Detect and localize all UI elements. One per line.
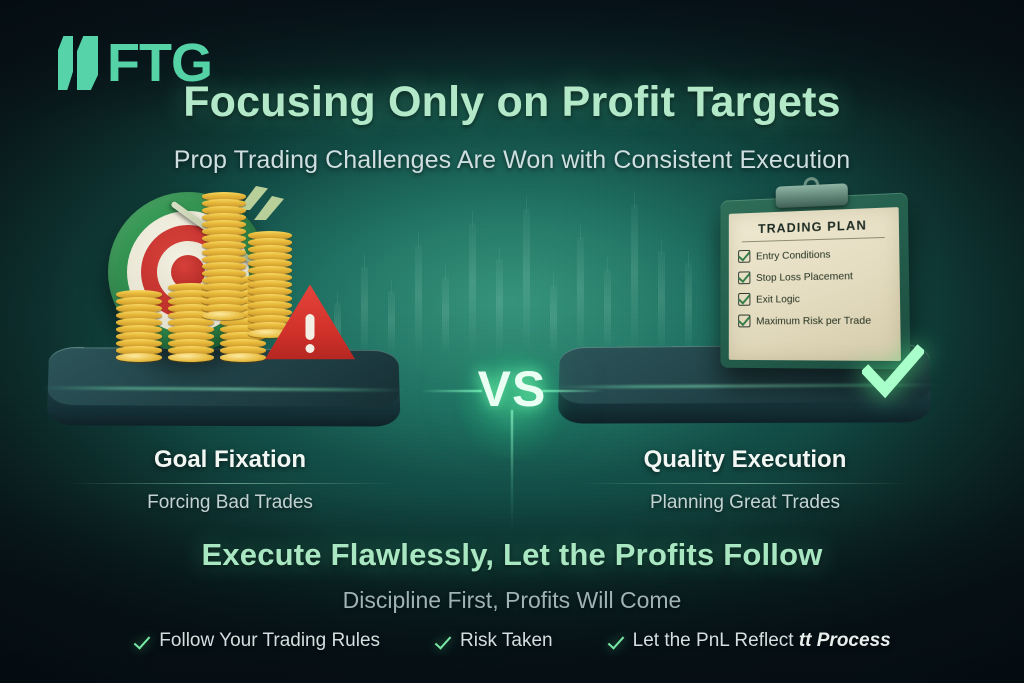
checklist-item: Maximum Risk per Trade	[738, 313, 890, 327]
clipboard-paper: TRADING PLAN Entry Conditions Stop Loss …	[729, 207, 901, 361]
checkbox-checked-icon	[738, 271, 750, 284]
vertical-divider	[511, 410, 513, 530]
check-icon	[133, 633, 150, 650]
trading-plan-clipboard: TRADING PLAN Entry Conditions Stop Loss …	[720, 193, 910, 370]
footer-bullet-list: Follow Your Trading Rules Risk Taken Let…	[0, 630, 1024, 652]
footer-tagline: Discipline First, Profits Will Come	[0, 587, 1024, 614]
checklist-item: Entry Conditions	[738, 246, 889, 263]
footer-bullet-label: Follow Your Trading Rules	[159, 630, 380, 652]
checkbox-checked-icon	[738, 250, 750, 263]
caption-divider	[579, 483, 911, 484]
right-column-title: Quality Execution	[565, 446, 925, 474]
footer-bullet-label: Risk Taken	[460, 630, 553, 652]
left-column-subtitle: Forcing Bad Trades	[50, 492, 410, 514]
poster-canvas: FTG Focusing Only on Profit Targets Prop…	[0, 0, 1024, 683]
footer-bullet-item: Follow Your Trading Rules	[133, 630, 380, 652]
checklist-item-label: Exit Logic	[756, 293, 800, 305]
footer-bullet-item: Risk Taken	[434, 630, 553, 652]
caption-divider	[64, 483, 396, 484]
checkbox-checked-icon	[738, 315, 750, 328]
page-subtitle: Prop Trading Challenges Are Won with Con…	[0, 146, 1024, 175]
checklist-item-label: Maximum Risk per Trade	[756, 314, 871, 327]
checklist-item: Stop Loss Placement	[738, 268, 889, 284]
checkbox-checked-icon	[738, 293, 750, 306]
footer-bullet-item: Let the PnL Reflect tt Process	[607, 630, 891, 652]
left-column-title: Goal Fixation	[50, 446, 410, 474]
checklist-item-label: Stop Loss Placement	[756, 270, 853, 284]
check-icon	[434, 633, 451, 650]
footer-bullet-label: Let the PnL Reflect tt Process	[633, 630, 891, 652]
right-column-caption: Quality Execution Planning Great Trades	[565, 446, 925, 514]
checklist-item-label: Entry Conditions	[756, 248, 831, 262]
check-icon	[607, 633, 624, 650]
checklist-item: Exit Logic	[738, 291, 890, 306]
footer-headline: Execute Flawlessly, Let the Profits Foll…	[0, 537, 1024, 573]
left-column-caption: Goal Fixation Forcing Bad Trades	[50, 446, 410, 514]
clipboard-clip-icon	[776, 183, 848, 208]
page-title: Focusing Only on Profit Targets	[0, 78, 1024, 127]
versus-label: VS	[478, 361, 547, 417]
right-column-subtitle: Planning Great Trades	[565, 492, 925, 514]
